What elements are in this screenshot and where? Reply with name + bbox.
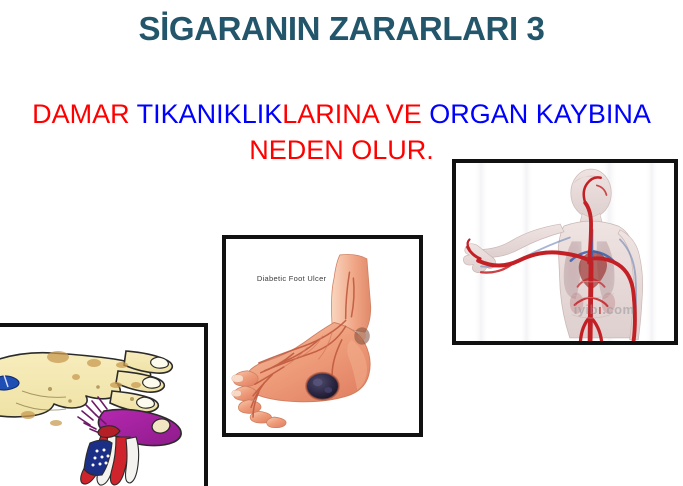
subtitle-word-tikaniklik: TIKANIKLIK <box>137 99 283 129</box>
gangrene-extremity-illustration <box>0 327 204 486</box>
diabetic-foot-svg <box>226 239 419 433</box>
image-frame-circulatory-system: iyibı.com <box>452 159 678 345</box>
presentation-slide: SİGARANIN ZARARLARI 3 DAMAR TIKANIKLIKLA… <box>0 0 683 486</box>
circulatory-system-illustration: iyibı.com <box>456 163 674 341</box>
diabetic-foot-illustration: Diabetic Foot Ulcer <box>226 239 419 433</box>
foot-image-caption: Diabetic Foot Ulcer <box>257 274 326 283</box>
image-frame-diabetic-foot: Diabetic Foot Ulcer <box>222 235 423 437</box>
subtitle-word-organ-kaybina: ORGAN KAYBINA <box>429 99 651 129</box>
circulatory-system-svg <box>456 163 674 341</box>
subtitle-word-damar: DAMAR <box>32 99 137 129</box>
subtitle-text: DAMAR TIKANIKLIKLARINA VE ORGAN KAYBINA … <box>0 96 683 168</box>
image-frame-gangrene-extremity <box>0 323 208 486</box>
page-title: SİGARANIN ZARARLARI 3 <box>0 8 683 50</box>
subtitle-word-larina-ve: LARINA VE <box>282 99 429 129</box>
gangrene-extremity-svg <box>0 327 204 486</box>
